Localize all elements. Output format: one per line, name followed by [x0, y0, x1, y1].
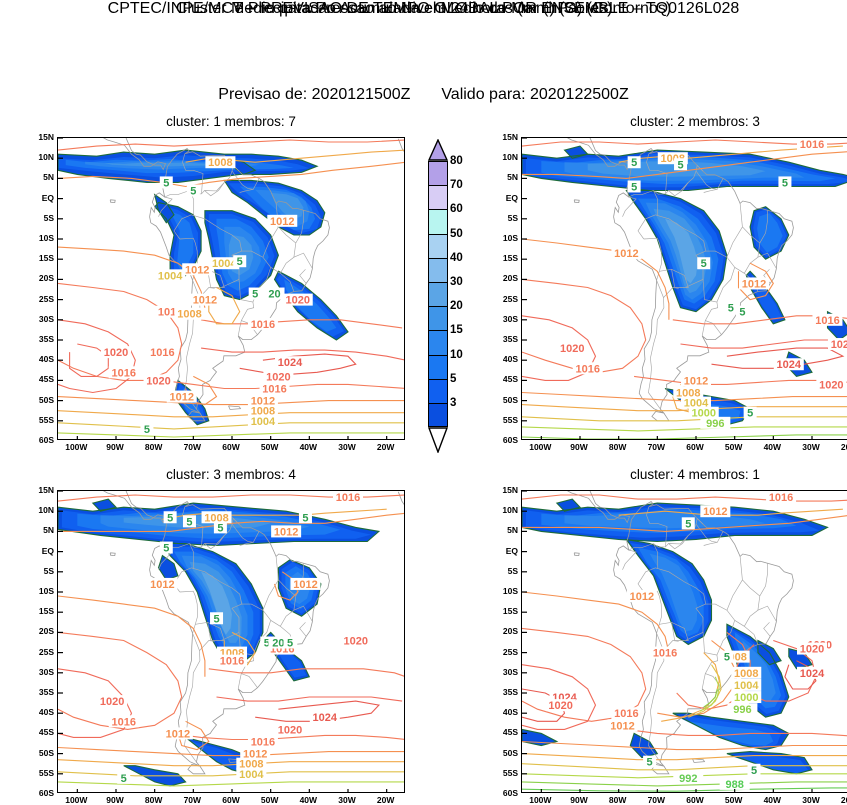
svg-text:1016: 1016: [251, 319, 275, 331]
svg-text:1020: 1020: [819, 379, 843, 391]
lon-tick-label: 50W: [252, 443, 288, 452]
svg-text:5: 5: [217, 522, 223, 534]
svg-text:1012: 1012: [742, 278, 766, 290]
svg-text:1004: 1004: [734, 680, 759, 692]
svg-text:996: 996: [706, 418, 724, 430]
lon-tick-label: 60W: [213, 443, 249, 452]
lon-tick-label: 50W: [252, 796, 288, 805]
map-panel-cluster-4[interactable]: 1012101610121008101610201024100810041000…: [521, 490, 847, 793]
lat-tick-label: 20S: [27, 274, 54, 283]
svg-text:1012: 1012: [150, 579, 174, 591]
svg-text:1020: 1020: [560, 343, 584, 355]
svg-text:1020: 1020: [278, 724, 302, 736]
svg-text:1016: 1016: [251, 736, 275, 748]
lat-tick-label: 25S: [491, 648, 518, 657]
lat-tick-label: 55S: [27, 769, 54, 778]
lon-tick-label: 40W: [754, 796, 790, 805]
panel-title-cluster-2: cluster: 2 membros: 3: [521, 114, 847, 129]
colorbar-tick-label: 40: [450, 253, 463, 265]
title-subtitle-line2: e Precipitacao Acumulada em 24 horas (mm…: [0, 0, 847, 18]
lat-tick-label: EQ: [27, 547, 54, 556]
colorbar-segment: [428, 161, 448, 185]
colorbar-segment: [428, 234, 448, 258]
colorbar-tick-label: 70: [450, 180, 463, 192]
colorbar-tick-label: 80: [450, 156, 463, 168]
svg-text:1024: 1024: [278, 357, 303, 369]
svg-text:1008: 1008: [734, 668, 758, 680]
lat-tick-label: 35S: [491, 688, 518, 697]
lat-tick-label: 45S: [491, 375, 518, 384]
lat-tick-label: 50S: [491, 749, 518, 758]
svg-text:5: 5: [237, 256, 243, 268]
lon-tick-label: 30W: [793, 796, 829, 805]
lat-tick-label: 20S: [491, 274, 518, 283]
lat-tick-label: 10N: [491, 506, 518, 515]
svg-text:5: 5: [631, 157, 637, 169]
lat-tick-label: 30S: [491, 315, 518, 324]
lon-tick-label: 70W: [638, 443, 674, 452]
colorbar-segment: [428, 185, 448, 209]
lon-tick-label: 40W: [754, 443, 790, 452]
svg-text:5: 5: [647, 757, 653, 769]
svg-text:20: 20: [268, 289, 280, 301]
lat-tick-label: 55S: [491, 416, 518, 425]
lat-tick-label: 10S: [491, 587, 518, 596]
lat-tick-label: 25S: [27, 295, 54, 304]
svg-text:5: 5: [701, 258, 707, 270]
lat-tick-label: 45S: [27, 728, 54, 737]
map-panel-cluster-3[interactable]: 1016101210081012101210161020101610201024…: [57, 490, 405, 793]
svg-text:1000: 1000: [734, 692, 758, 704]
svg-text:1008: 1008: [208, 157, 232, 169]
svg-text:1020: 1020: [146, 375, 170, 387]
lat-tick-label: 30S: [27, 315, 54, 324]
lat-tick-label: 15S: [27, 607, 54, 616]
svg-text:1012: 1012: [614, 248, 638, 260]
colorbar-tick-label: 60: [450, 204, 463, 216]
lon-tick-label: 30W: [793, 443, 829, 452]
lat-tick-label: 5N: [27, 173, 54, 182]
colorbar-segment: [428, 330, 448, 354]
lat-tick-label: 30S: [491, 668, 518, 677]
lat-tick-label: 10S: [491, 234, 518, 243]
lat-tick-label: 35S: [491, 335, 518, 344]
svg-text:1020: 1020: [800, 644, 824, 656]
colorbar-under-arrow: [428, 427, 448, 453]
lat-tick-label: 20S: [27, 627, 54, 636]
svg-text:5: 5: [685, 518, 691, 530]
svg-text:1016: 1016: [111, 367, 135, 379]
lat-tick-label: 5N: [27, 526, 54, 535]
lat-tick-label: 60S: [491, 436, 518, 445]
svg-text:1016: 1016: [150, 347, 174, 359]
svg-text:5: 5: [724, 652, 730, 664]
lon-tick-label: 70W: [638, 796, 674, 805]
lon-tick-label: 80W: [600, 443, 636, 452]
svg-text:5: 5: [728, 303, 734, 315]
svg-text:20: 20: [272, 638, 284, 650]
lat-tick-label: 55S: [27, 416, 54, 425]
lon-tick-label: 100W: [522, 796, 558, 805]
svg-text:5: 5: [163, 543, 169, 555]
svg-text:1024: 1024: [800, 668, 825, 680]
svg-text:996: 996: [733, 704, 751, 716]
lat-tick-label: 15S: [491, 254, 518, 263]
svg-text:1016: 1016: [111, 716, 135, 728]
lon-tick-label: 40W: [290, 796, 326, 805]
lon-tick-label: 60W: [677, 443, 713, 452]
svg-text:1016: 1016: [262, 383, 286, 395]
svg-text:1016: 1016: [220, 656, 244, 668]
lat-tick-label: 40S: [491, 708, 518, 717]
svg-text:992: 992: [679, 773, 697, 785]
lat-tick-label: 10S: [27, 587, 54, 596]
lat-tick-label: 45S: [491, 728, 518, 737]
lon-tick-label: 40W: [290, 443, 326, 452]
lon-tick-label: 100W: [58, 796, 94, 805]
svg-text:1020: 1020: [831, 339, 847, 351]
lat-tick-label: 15N: [491, 133, 518, 142]
svg-text:1012: 1012: [169, 392, 193, 404]
lon-tick-label: 70W: [174, 796, 210, 805]
lon-tick-label: 30W: [329, 796, 365, 805]
colorbar-over-arrow: [428, 139, 448, 161]
lat-tick-label: 15N: [491, 486, 518, 495]
svg-text:5: 5: [739, 307, 745, 319]
svg-text:5: 5: [287, 638, 293, 650]
lon-tick-label: 80W: [600, 796, 636, 805]
svg-text:1012: 1012: [703, 506, 727, 518]
lat-tick-label: 35S: [27, 688, 54, 697]
lon-tick-label: 90W: [561, 796, 597, 805]
lat-tick-label: 60S: [27, 789, 54, 798]
svg-text:1012: 1012: [270, 216, 294, 228]
svg-text:1004: 1004: [251, 416, 276, 428]
lat-tick-label: 15N: [27, 486, 54, 495]
lon-tick-label: 20W: [368, 443, 404, 452]
lat-tick-label: EQ: [491, 194, 518, 203]
lat-tick-label: 5S: [27, 214, 54, 223]
colorbar-segment: [428, 258, 448, 282]
svg-text:1012: 1012: [193, 295, 217, 307]
valid-for-label: Valido para: 2020122500Z: [441, 86, 628, 103]
lat-tick-label: 5S: [27, 567, 54, 576]
lon-tick-label: 30W: [329, 443, 365, 452]
colorbar-segment: [428, 403, 448, 427]
precipitation-colorbar: 80706050403020151053: [422, 133, 488, 443]
forecast-date-line: Previsao de: 2020121500Z Valido para: 20…: [0, 86, 847, 104]
lat-tick-label: 20S: [491, 627, 518, 636]
lon-tick-label: 90W: [97, 443, 133, 452]
lat-tick-label: 40S: [27, 355, 54, 364]
svg-text:1016: 1016: [614, 708, 638, 720]
lat-tick-label: 30S: [27, 668, 54, 677]
svg-text:1020: 1020: [266, 371, 290, 383]
svg-text:1016: 1016: [653, 648, 677, 660]
svg-text:5: 5: [677, 159, 683, 171]
svg-text:5: 5: [782, 177, 788, 189]
svg-text:1016: 1016: [769, 492, 793, 504]
colorbar-tick-label: 50: [450, 229, 463, 241]
svg-text:5: 5: [163, 177, 169, 189]
svg-text:1016: 1016: [815, 315, 839, 327]
svg-text:1012: 1012: [166, 728, 190, 740]
lat-tick-label: 10N: [491, 153, 518, 162]
svg-text:5: 5: [190, 186, 196, 198]
lon-tick-label: 90W: [97, 796, 133, 805]
lat-tick-label: 50S: [27, 396, 54, 405]
lat-tick-label: 45S: [27, 375, 54, 384]
map-panel-cluster-2[interactable]: 1016100810121012101610201024101610201012…: [521, 137, 847, 440]
svg-text:5: 5: [144, 424, 150, 436]
lat-tick-label: 50S: [27, 749, 54, 758]
svg-text:1012: 1012: [185, 264, 209, 276]
svg-text:1020: 1020: [343, 635, 367, 647]
svg-text:5: 5: [302, 512, 308, 524]
forecast-from-label: Previsao de: 2020121500Z: [218, 86, 410, 103]
lat-tick-label: 15S: [27, 254, 54, 263]
lat-tick-label: EQ: [27, 194, 54, 203]
lon-tick-label: 50W: [716, 796, 752, 805]
svg-text:1004: 1004: [158, 270, 183, 282]
colorbar-tick-label: 30: [450, 277, 463, 289]
lat-tick-label: 15N: [27, 133, 54, 142]
lon-tick-label: 70W: [174, 443, 210, 452]
colorbar-tick-label: 5: [450, 374, 456, 386]
colorbar-segment: [428, 306, 448, 330]
svg-text:1020: 1020: [104, 347, 128, 359]
svg-text:1012: 1012: [610, 720, 634, 732]
lat-tick-label: 60S: [27, 436, 54, 445]
svg-text:5: 5: [252, 289, 258, 301]
panel-title-cluster-4: cluster: 4 membros: 1: [521, 467, 847, 482]
lon-tick-label: 60W: [213, 796, 249, 805]
colorbar-segment: [428, 355, 448, 379]
colorbar-segment: [428, 282, 448, 306]
svg-text:1016: 1016: [336, 492, 360, 504]
lat-tick-label: 55S: [491, 769, 518, 778]
panel-title-cluster-3: cluster: 3 membros: 4: [57, 467, 405, 482]
svg-text:1012: 1012: [684, 375, 708, 387]
lat-tick-label: 5N: [491, 173, 518, 182]
svg-text:5: 5: [167, 512, 173, 524]
lon-tick-label: 90W: [561, 443, 597, 452]
colorbar-tick-label: 20: [450, 301, 463, 313]
svg-text:5: 5: [751, 765, 757, 777]
colorbar-tick-label: 15: [450, 325, 463, 337]
colorbar-segment: [428, 379, 448, 403]
lat-tick-label: 10N: [27, 153, 54, 162]
svg-text:1020: 1020: [100, 696, 124, 708]
svg-text:1012: 1012: [630, 591, 654, 603]
svg-text:5: 5: [186, 516, 192, 528]
lon-tick-label: 100W: [522, 443, 558, 452]
svg-text:1008: 1008: [177, 309, 201, 321]
svg-text:5: 5: [631, 181, 637, 193]
lat-tick-label: 50S: [491, 396, 518, 405]
colorbar-tick-label: 10: [450, 350, 463, 362]
lat-tick-label: 10N: [27, 506, 54, 515]
svg-text:1012: 1012: [274, 526, 298, 538]
svg-text:1016: 1016: [575, 363, 599, 375]
svg-text:5: 5: [213, 613, 219, 625]
lat-tick-label: 60S: [491, 789, 518, 798]
lat-tick-label: 5S: [491, 214, 518, 223]
svg-text:5: 5: [747, 408, 753, 420]
lon-tick-label: 50W: [716, 443, 752, 452]
lat-tick-label: 25S: [27, 648, 54, 657]
svg-text:1016: 1016: [800, 139, 824, 151]
lon-tick-label: 80W: [136, 796, 172, 805]
lat-tick-label: 10S: [27, 234, 54, 243]
panel-title-cluster-1: cluster: 1 membros: 7: [57, 114, 405, 129]
svg-text:1024: 1024: [313, 712, 338, 724]
lat-tick-label: 5S: [491, 567, 518, 576]
svg-text:1024: 1024: [777, 359, 802, 371]
colorbar-tick-label: 3: [450, 398, 456, 410]
svg-text:1020: 1020: [548, 700, 572, 712]
svg-text:5: 5: [121, 773, 127, 785]
lat-tick-label: 15S: [491, 607, 518, 616]
lat-tick-label: 25S: [491, 295, 518, 304]
colorbar-segment: [428, 209, 448, 233]
lon-tick-label: 100W: [58, 443, 94, 452]
svg-text:1020: 1020: [285, 295, 309, 307]
lat-tick-label: 35S: [27, 335, 54, 344]
lat-tick-label: EQ: [491, 547, 518, 556]
lat-tick-label: 40S: [27, 708, 54, 717]
lat-tick-label: 5N: [491, 526, 518, 535]
lon-tick-label: 20W: [832, 796, 847, 805]
lon-tick-label: 20W: [368, 796, 404, 805]
svg-text:1012: 1012: [293, 579, 317, 591]
lon-tick-label: 60W: [677, 796, 713, 805]
lon-tick-label: 20W: [832, 443, 847, 452]
map-panel-cluster-1[interactable]: 1012100810041012101210161008101610201020…: [57, 137, 405, 440]
svg-text:1004: 1004: [239, 769, 264, 781]
lon-tick-label: 80W: [136, 443, 172, 452]
lat-tick-label: 40S: [491, 355, 518, 364]
